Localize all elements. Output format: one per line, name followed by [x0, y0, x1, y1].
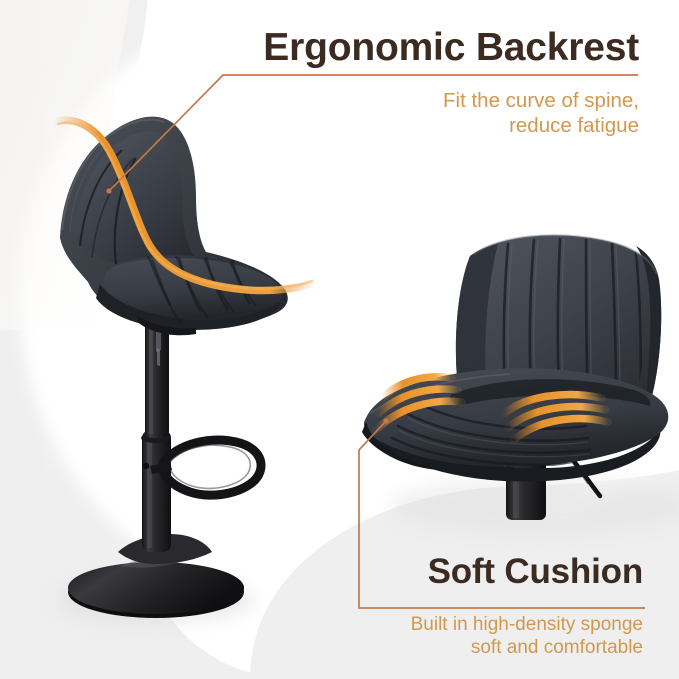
infographic-canvas: Ergonomic Backrest Fit the curve of spin… — [0, 0, 679, 679]
callout-headline-soft-cushion: Soft Cushion — [428, 554, 643, 589]
callout-soft-cushion: Soft Cushion Built in high-density spong… — [0, 0, 679, 679]
callout-subtext-line-1: Built in high-density sponge — [411, 613, 643, 636]
callout-subtext-line-2: soft and comfortable — [411, 636, 643, 659]
callout-subtext-soft-cushion: Built in high-density sponge soft and co… — [411, 613, 643, 659]
